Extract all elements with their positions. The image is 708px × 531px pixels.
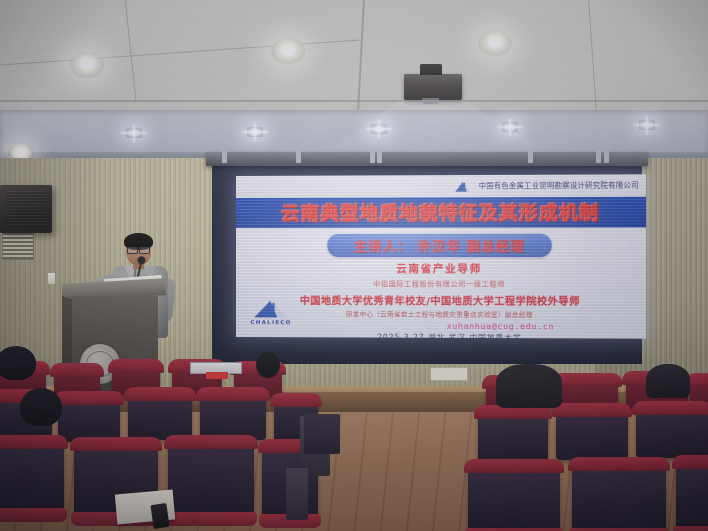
chalieco-wordmark: CHALIECO [244,320,298,326]
auditorium-seat[interactable] [128,392,192,440]
seat-armrest [286,468,308,520]
chalieco-triangle-icon [250,298,292,320]
recessed-strip-light [502,122,518,132]
chalieco-triangle-icon [453,180,473,193]
lecture-hall-photo: 中国有色金属工业昆明勘察设计研究院有限公司 云南典型地质地貌特征及其形成机制 主… [0,0,708,531]
valance-clip [370,150,375,163]
projector-lens [422,98,439,104]
recessed-strip-light [639,120,655,130]
recessed-strip-light [247,127,263,137]
slide-speaker-line: 主讲人： 许汉华 副总经理 [354,240,525,255]
valance-clip [596,150,601,163]
auditorium-seat[interactable] [468,464,560,531]
auditorium-seat[interactable] [636,406,708,458]
projector-mount [420,64,442,75]
wall-access-plate [430,367,468,381]
seat-desk-flap[interactable] [304,414,340,454]
slide-chalieco-logo: CHALIECO [244,298,298,332]
slide-title-band: 云南典型地质地貌特征及其形成机制 [236,197,646,228]
ceiling-downlight [478,30,512,56]
water-cup [48,273,55,284]
presenter-glasses [127,247,150,252]
auditorium-seat[interactable] [0,440,64,514]
slide-header: 中国有色金属工业昆明勘察设计研究院有限公司 [236,174,646,198]
auditorium-seat[interactable] [478,410,548,462]
seat-reserved-tag [206,372,228,379]
slide-affiliation-line: 中铝国际工程股份有限公司一级工程师 [236,279,646,290]
auditorium-seat[interactable] [556,408,628,460]
ceiling-projector [404,74,462,100]
audience-member [256,352,280,378]
valance-clip [222,150,227,163]
audience-member [496,364,562,408]
projection-screen-valance [206,152,648,166]
auditorium-seat[interactable] [200,392,266,440]
valance-clip [528,150,533,163]
slide-role-line: 云南省产业导师 [236,261,646,276]
valance-clip [296,150,301,163]
valance-clip [604,150,609,163]
valance-clip [377,150,382,163]
wall-speaker [0,185,52,233]
slide-main-title: 云南典型地质地貌特征及其形成机制 [281,199,599,226]
ceiling-downlight [70,52,104,78]
audience-member [20,388,62,426]
slide-speaker-pill: 主讲人： 许汉华 副总经理 [328,234,552,257]
audience-member [0,346,36,380]
ceiling-downlight [271,38,305,64]
auditorium-seat[interactable] [58,396,120,442]
projection-screen: 中国有色金属工业昆明勘察设计研究院有限公司 云南典型地质地貌特征及其形成机制 主… [236,174,646,338]
phone-on-seat [150,503,169,529]
audience-member [646,364,690,398]
recessed-strip-light [126,128,142,138]
slide-corp-header: 中国有色金属工业昆明勘察设计研究院有限公司 [479,180,639,191]
auditorium-seat[interactable] [676,460,708,531]
auditorium-seat[interactable] [572,462,666,531]
recessed-strip-light [371,124,387,134]
auditorium-seat[interactable] [168,440,254,518]
